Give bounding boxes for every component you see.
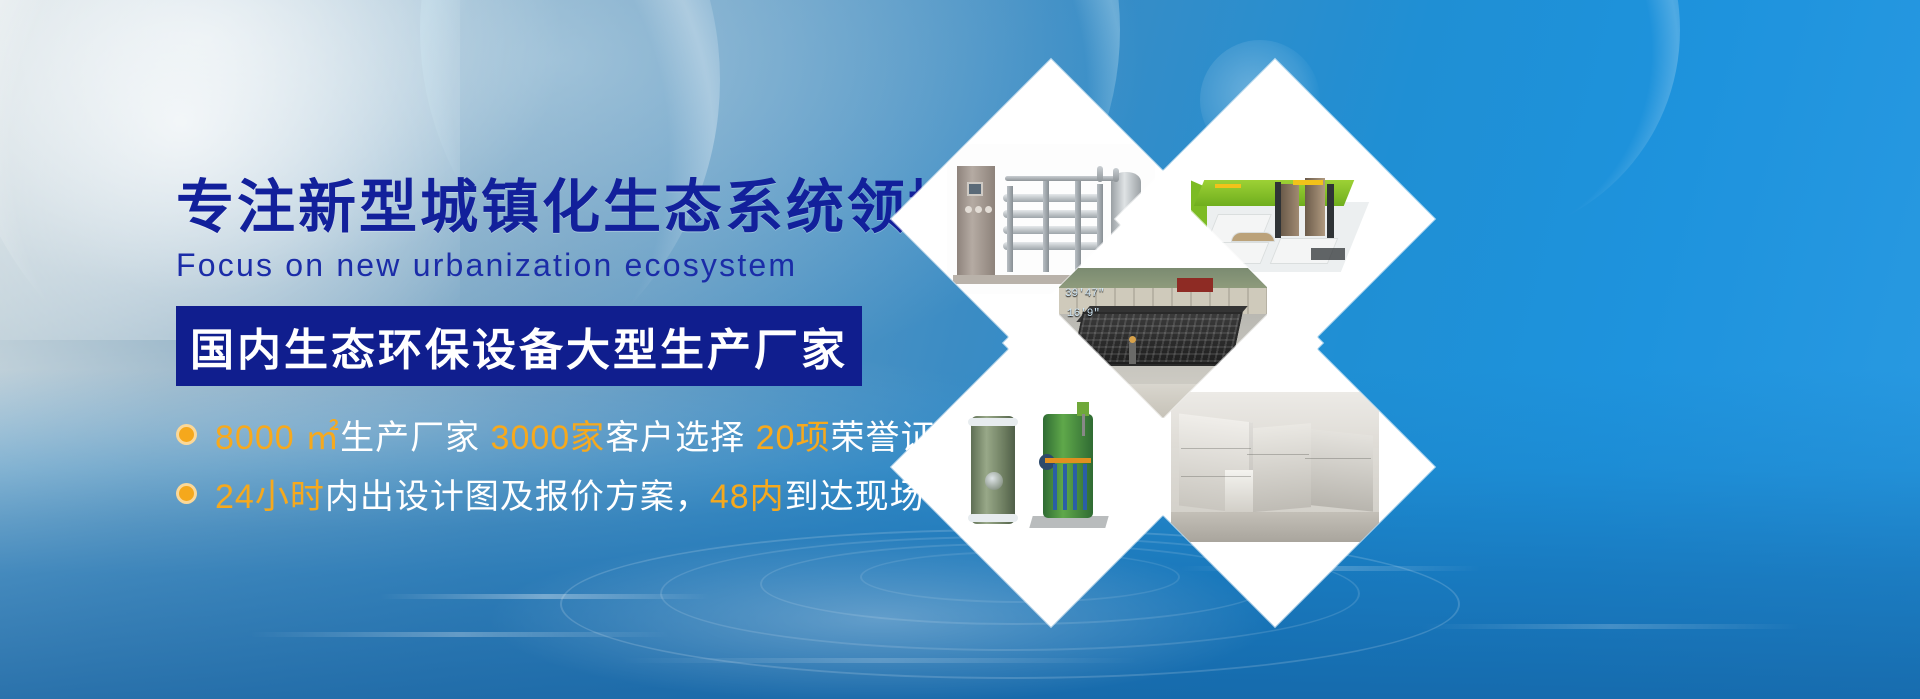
mbbr-dimension-label-2: 16'9" xyxy=(1067,308,1100,320)
water-streak xyxy=(380,594,710,599)
list-item: 24小时内出设计图及报价方案，48内到达现场 xyxy=(176,469,896,518)
list-item: 8000 ㎡生产厂家 3000家客户选择 20项荣誉证书 xyxy=(176,410,896,459)
banner-text-block: 专注新型城镇化生态系统领域 Focus on new urbanization … xyxy=(176,176,896,518)
bullet-plain-segment: 内出设计图及报价方案， xyxy=(325,478,710,516)
banner-highlight-box-text: 国内生态环保设备大型生产厂家 xyxy=(190,314,848,378)
banner-headline: 专注新型城镇化生态系统领域 xyxy=(176,176,896,241)
banner-subheadline: Focus on new urbanization ecosystem xyxy=(176,247,896,284)
banner-bullet-list: 8000 ㎡生产厂家 3000家客户选择 20项荣誉证书 24小时内出设计图及报… xyxy=(176,410,896,518)
bullet-highlight-segment: 48内 xyxy=(710,478,785,516)
bullet-highlight-segment: 24小时 xyxy=(215,478,325,516)
precast-concrete-blocks-image xyxy=(1171,392,1379,542)
bullet-dot-icon xyxy=(176,424,197,445)
bullet-plain-segment: 生产厂家 xyxy=(340,419,490,457)
banner-highlight-box: 国内生态环保设备大型生产厂家 xyxy=(176,306,862,386)
bullet-text-1: 8000 ㎡生产厂家 3000家客户选择 20项荣誉证书 xyxy=(215,410,970,459)
bullet-text-2: 24小时内出设计图及报价方案，48内到达现场 xyxy=(215,469,925,518)
bullet-dot-icon xyxy=(176,483,197,504)
mbbr-dimension-label-1: 39'47" xyxy=(1065,288,1105,300)
water-streak xyxy=(620,658,1140,663)
hero-banner: 专注新型城镇化生态系统领域 Focus on new urbanization … xyxy=(0,0,1920,699)
water-streak xyxy=(250,632,670,637)
water-streak xyxy=(1420,624,1800,629)
bullet-highlight-segment: 20项 xyxy=(756,419,831,457)
bullet-plain-segment: 客户选择 xyxy=(605,419,755,457)
product-diamond-grid: 39'47" 16'9" xyxy=(900,58,1920,578)
bullet-highlight-segment: 3000家 xyxy=(491,419,606,457)
bullet-highlight-segment: 8000 ㎡ xyxy=(215,419,340,457)
